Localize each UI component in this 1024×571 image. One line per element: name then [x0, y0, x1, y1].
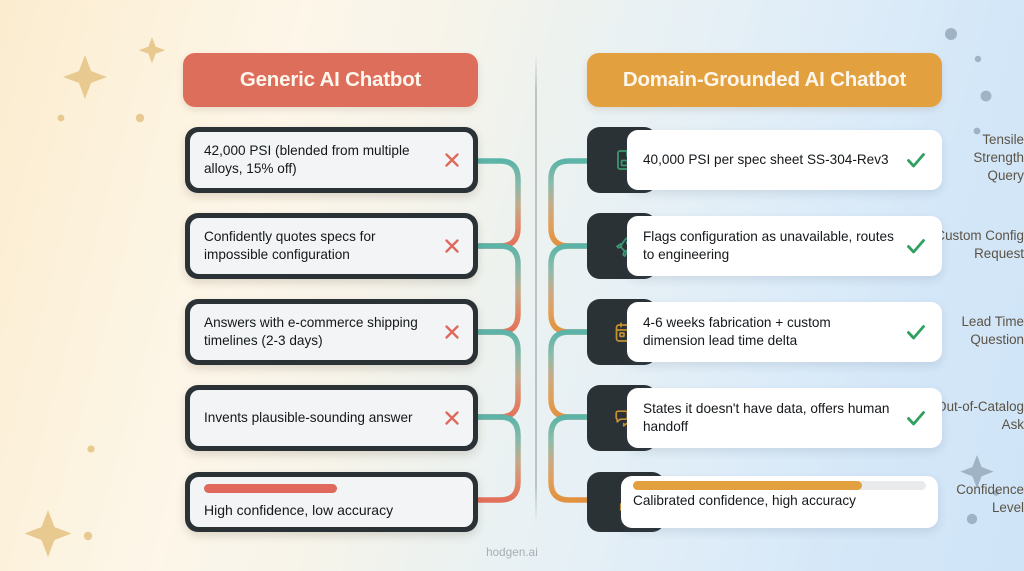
- left-card-lead-time[interactable]: Answers with e-commerce shipping timelin…: [185, 299, 478, 365]
- left-card-text: Confidently quotes specs for impossible …: [204, 228, 435, 265]
- left-card-confidence[interactable]: High confidence, low accuracy: [185, 472, 478, 532]
- right-card-confidence[interactable]: Calibrated confidence, high accuracy: [587, 472, 942, 532]
- check-icon: [904, 320, 928, 344]
- check-icon: [904, 148, 928, 172]
- left-card-body: Confidently quotes specs for impossible …: [190, 218, 473, 274]
- right-card-body: Flags configuration as unavailable, rout…: [627, 216, 942, 276]
- left-card-text: High confidence, low accuracy: [204, 501, 463, 520]
- right-card-out-of-catalog[interactable]: States it doesn't have data, offers huma…: [587, 385, 942, 451]
- right-card-body: 40,000 PSI per spec sheet SS-304-Rev3: [627, 130, 942, 190]
- column-header-generic: Generic AI Chatbot: [183, 53, 478, 107]
- x-icon: [441, 235, 463, 257]
- deco-dot: [84, 532, 92, 540]
- left-card-text: Answers with e-commerce shipping timelin…: [204, 314, 435, 351]
- right-card-text: 40,000 PSI per spec sheet SS-304-Rev3: [643, 151, 896, 170]
- center-divider: [535, 53, 537, 523]
- right-card-text: Calibrated confidence, high accuracy: [633, 492, 926, 522]
- right-card-body: 4-6 weeks fabrication + custom dimension…: [627, 302, 942, 362]
- right-card-text: 4-6 weeks fabrication + custom dimension…: [643, 314, 896, 351]
- connector-left: [478, 417, 518, 500]
- left-card-body: Answers with e-commerce shipping timelin…: [190, 304, 473, 360]
- right-card-tensile-strength[interactable]: 40,000 PSI per spec sheet SS-304-Rev3: [587, 127, 942, 193]
- footer-attribution: hodgen.ai: [0, 546, 1024, 559]
- column-header-domain-grounded: Domain-Grounded AI Chatbot: [587, 53, 942, 107]
- left-card-body: High confidence, low accuracy: [190, 477, 473, 527]
- x-icon: [441, 149, 463, 171]
- confidence-bar-right: [633, 481, 926, 490]
- x-icon: [441, 407, 463, 429]
- deco-dot: [945, 28, 957, 40]
- left-card-custom-config[interactable]: Confidently quotes specs for impossible …: [185, 213, 478, 279]
- deco-dot: [87, 445, 94, 452]
- left-card-body: 42,000 PSI (blended from multiple alloys…: [190, 132, 473, 188]
- right-card-text: Flags configuration as unavailable, rout…: [643, 228, 896, 265]
- confidence-bar-fill: [204, 484, 337, 493]
- connector-left: [478, 332, 518, 417]
- left-card-tensile-strength[interactable]: 42,000 PSI (blended from multiple alloys…: [185, 127, 478, 193]
- sparkle-icon: [63, 55, 107, 99]
- right-card-text: States it doesn't have data, offers huma…: [643, 400, 896, 437]
- connector-left: [478, 161, 518, 246]
- right-card-body: Calibrated confidence, high accuracy: [621, 476, 938, 528]
- confidence-bar-track: [204, 484, 459, 493]
- left-card-text: 42,000 PSI (blended from multiple alloys…: [204, 142, 435, 179]
- confidence-bar-track: [633, 481, 926, 490]
- right-card-lead-time[interactable]: 4-6 weeks fabrication + custom dimension…: [587, 299, 942, 365]
- confidence-bar-left: [204, 484, 459, 493]
- deco-dot: [981, 91, 992, 102]
- check-icon: [904, 234, 928, 258]
- left-card-out-of-catalog[interactable]: Invents plausible-sounding answer: [185, 385, 478, 451]
- connector-left: [478, 246, 518, 332]
- right-card-custom-config[interactable]: Flags configuration as unavailable, rout…: [587, 213, 942, 279]
- infographic-canvas: Generic AI Chatbot Domain-Grounded AI Ch…: [0, 0, 1024, 571]
- x-icon: [441, 321, 463, 343]
- deco-dot: [58, 115, 65, 122]
- check-icon: [904, 406, 928, 430]
- confidence-bar-fill: [633, 481, 862, 490]
- sparkle-icon: [139, 37, 165, 63]
- left-card-text: Invents plausible-sounding answer: [204, 409, 435, 428]
- deco-dot: [136, 114, 144, 122]
- left-card-body: Invents plausible-sounding answer: [190, 390, 473, 446]
- deco-dot: [975, 56, 981, 62]
- right-card-body: States it doesn't have data, offers huma…: [627, 388, 942, 448]
